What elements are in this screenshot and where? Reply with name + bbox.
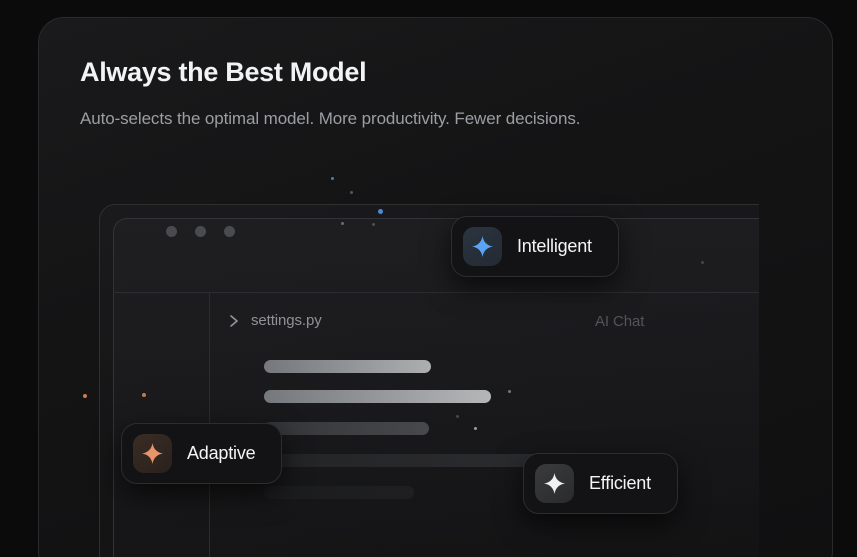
particle-dot <box>474 427 477 430</box>
sparkle-icon <box>463 227 502 266</box>
particle-dot <box>456 415 459 418</box>
minimize-dot-icon[interactable] <box>195 226 206 237</box>
code-line-placeholder <box>264 422 429 435</box>
badge-adaptive[interactable]: Adaptive <box>121 423 282 484</box>
sparkle-icon <box>535 464 574 503</box>
close-dot-icon[interactable] <box>166 226 177 237</box>
traffic-light-group <box>166 226 235 237</box>
ai-chat-panel-label: AI Chat <box>595 313 644 330</box>
page-title: Always the Best Model <box>80 57 366 88</box>
particle-dot <box>83 394 87 398</box>
particle-dot <box>341 222 344 225</box>
editor-window-mockup: settings.py AI Chat <box>99 190 799 557</box>
file-tree-item[interactable]: settings.py <box>229 312 322 329</box>
badge-label: Efficient <box>589 473 651 494</box>
particle-dot <box>372 223 375 226</box>
particle-dot <box>142 393 146 397</box>
feature-card: Always the Best Model Auto-selects the o… <box>38 17 833 557</box>
code-line-placeholder <box>264 486 414 499</box>
maximize-dot-icon[interactable] <box>224 226 235 237</box>
sparkle-icon <box>133 434 172 473</box>
code-line-placeholder <box>264 360 431 373</box>
particle-dot <box>331 177 334 180</box>
particle-dot <box>378 209 383 214</box>
file-name-label: settings.py <box>251 312 322 329</box>
particle-dot <box>350 191 353 194</box>
badge-label: Adaptive <box>187 443 255 464</box>
screenshot-root: Always the Best Model Auto-selects the o… <box>0 0 857 557</box>
badge-efficient[interactable]: Efficient <box>523 453 678 514</box>
badge-label: Intelligent <box>517 236 592 257</box>
code-line-placeholder <box>264 454 561 467</box>
particle-dot <box>701 261 704 264</box>
page-subtitle: Auto-selects the optimal model. More pro… <box>80 109 580 129</box>
chevron-right-icon <box>229 314 240 328</box>
badge-intelligent[interactable]: Intelligent <box>451 216 619 277</box>
code-line-placeholder <box>264 390 491 403</box>
particle-dot <box>508 390 511 393</box>
